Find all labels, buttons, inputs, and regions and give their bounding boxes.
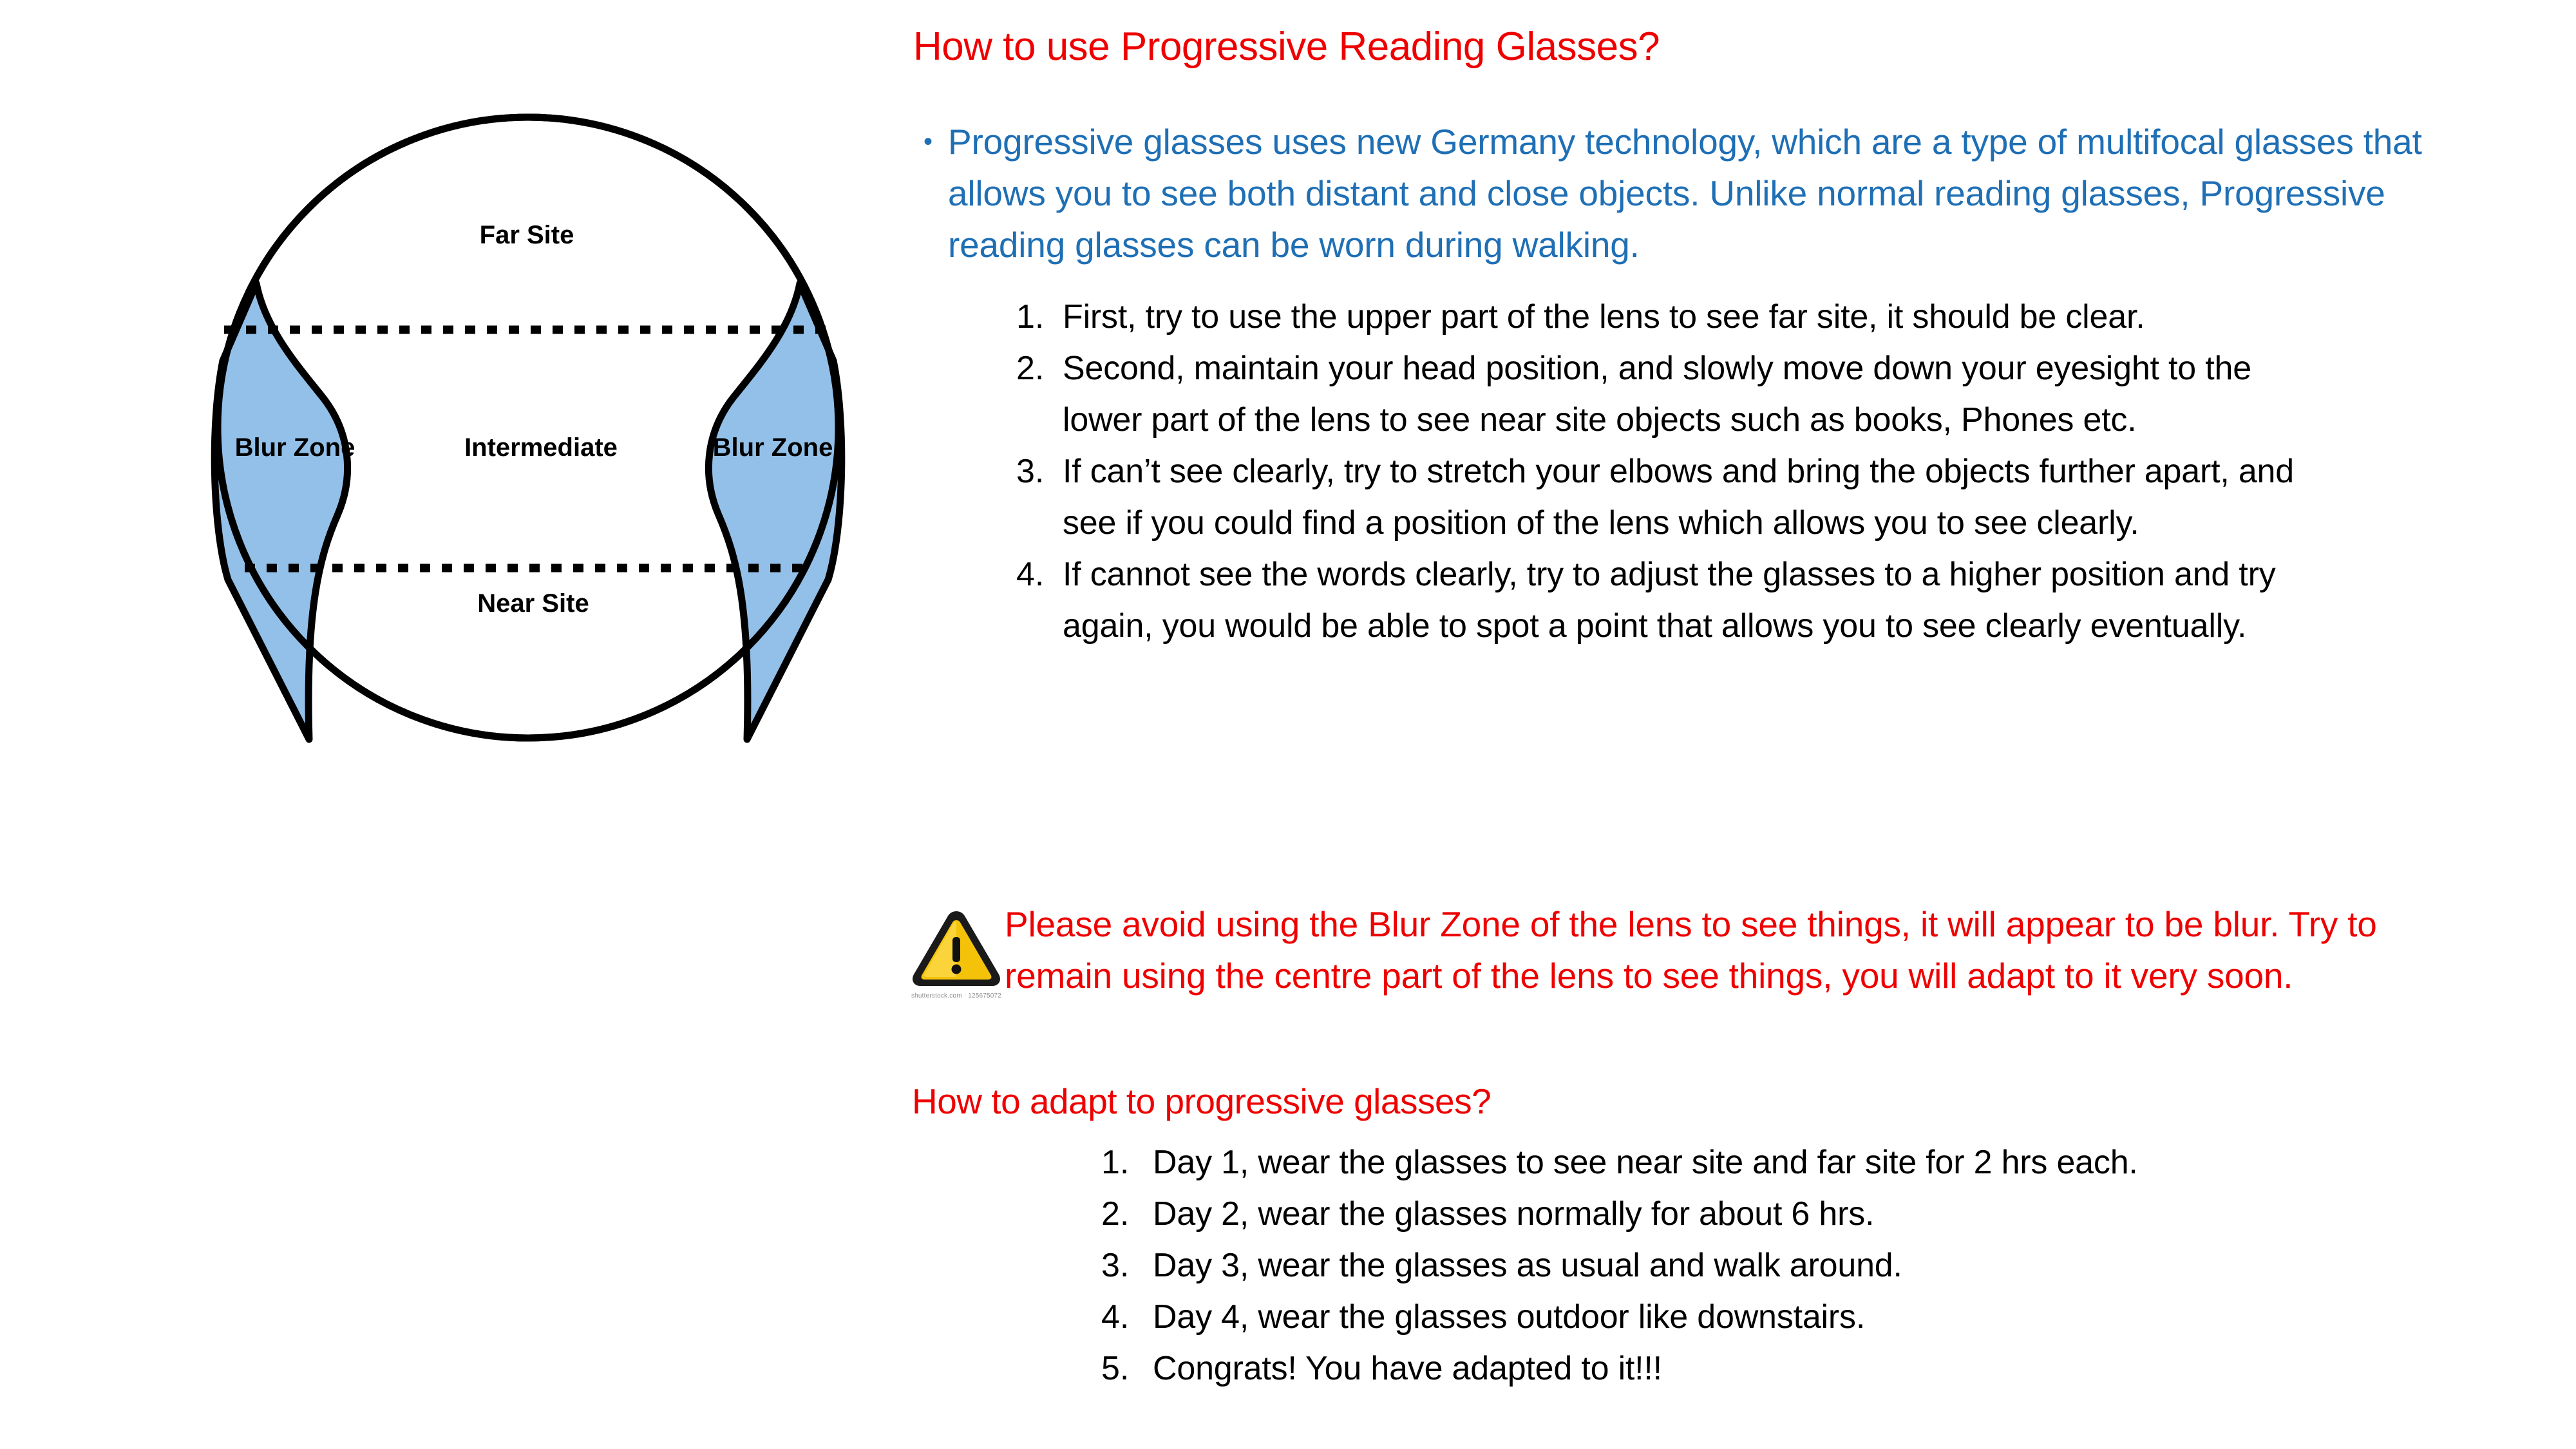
list-item-number: 1. bbox=[1016, 291, 1063, 343]
list-item-number: 4. bbox=[1101, 1291, 1153, 1343]
list-item-text: Second, maintain your head position, and… bbox=[1063, 343, 2325, 446]
bullet-marker-icon: • bbox=[908, 116, 948, 167]
list-item-number: 5. bbox=[1101, 1343, 1153, 1394]
page-title: How to use Progressive Reading Glasses? bbox=[913, 24, 1660, 69]
warning-triangle-icon bbox=[908, 906, 1005, 991]
list-item: 4. Day 4, wear the glasses outdoor like … bbox=[1101, 1291, 2454, 1343]
list-item-number: 3. bbox=[1101, 1240, 1153, 1291]
label-blur-zone-left: Blur Zone bbox=[235, 433, 355, 462]
warning-callout: shutterstock.com · 125675072 Please avoi… bbox=[908, 898, 2479, 1001]
label-far-site: Far Site bbox=[480, 221, 574, 249]
adaptation-steps-list: 1. Day 1, wear the glasses to see near s… bbox=[1101, 1137, 2454, 1394]
intro-bullet-item: • Progressive glasses uses new Germany t… bbox=[908, 116, 2479, 270]
list-item-text: Day 3, wear the glasses as usual and wal… bbox=[1153, 1240, 2376, 1291]
list-item: 2. Second, maintain your head position, … bbox=[1016, 343, 2369, 446]
list-item: 3. If can’t see clearly, try to stretch … bbox=[1016, 446, 2369, 549]
list-item-number: 2. bbox=[1101, 1188, 1153, 1240]
list-item-number: 3. bbox=[1016, 446, 1063, 497]
list-item-number: 2. bbox=[1016, 343, 1063, 394]
list-item-text: Day 2, wear the glasses normally for abo… bbox=[1153, 1188, 2376, 1240]
intro-paragraph: Progressive glasses uses new Germany tec… bbox=[948, 116, 2442, 270]
list-item-text: If can’t see clearly, try to stretch you… bbox=[1063, 446, 2325, 549]
list-item-text: Day 4, wear the glasses outdoor like dow… bbox=[1153, 1291, 2376, 1343]
list-item: 2. Day 2, wear the glasses normally for … bbox=[1101, 1188, 2454, 1240]
label-blur-zone-right: Blur Zone bbox=[713, 433, 833, 462]
warning-message: Please avoid using the Blur Zone of the … bbox=[1005, 898, 2467, 1001]
image-watermark: shutterstock.com · 125675072 bbox=[908, 992, 1005, 999]
usage-steps-list: 1. First, try to use the upper part of t… bbox=[1016, 291, 2369, 652]
list-item: 1. First, try to use the upper part of t… bbox=[1016, 291, 2369, 343]
list-item-text: If cannot see the words clearly, try to … bbox=[1063, 549, 2325, 652]
label-intermediate: Intermediate bbox=[464, 433, 618, 462]
list-item-number: 4. bbox=[1016, 549, 1063, 600]
list-item-number: 1. bbox=[1101, 1137, 1153, 1188]
list-item-text: Day 1, wear the glasses to see near site… bbox=[1153, 1137, 2376, 1188]
list-item: 3. Day 3, wear the glasses as usual and … bbox=[1101, 1240, 2454, 1291]
instructions-panel: How to use Progressive Reading Glasses? … bbox=[895, 0, 2544, 1449]
progressive-lens-diagram: Far Site Intermediate Near Site Blur Zon… bbox=[193, 90, 863, 760]
list-item-text: Congrats! You have adapted to it!!! bbox=[1153, 1343, 2376, 1394]
list-item: 1. Day 1, wear the glasses to see near s… bbox=[1101, 1137, 2454, 1188]
label-near-site: Near Site bbox=[477, 589, 589, 618]
list-item: 5. Congrats! You have adapted to it!!! bbox=[1101, 1343, 2454, 1394]
adapt-section-title: How to adapt to progressive glasses? bbox=[912, 1082, 1491, 1122]
list-item: 4. If cannot see the words clearly, try … bbox=[1016, 549, 2369, 652]
warning-icon-container: shutterstock.com · 125675072 bbox=[908, 898, 1005, 999]
list-item-text: First, try to use the upper part of the … bbox=[1063, 291, 2325, 343]
